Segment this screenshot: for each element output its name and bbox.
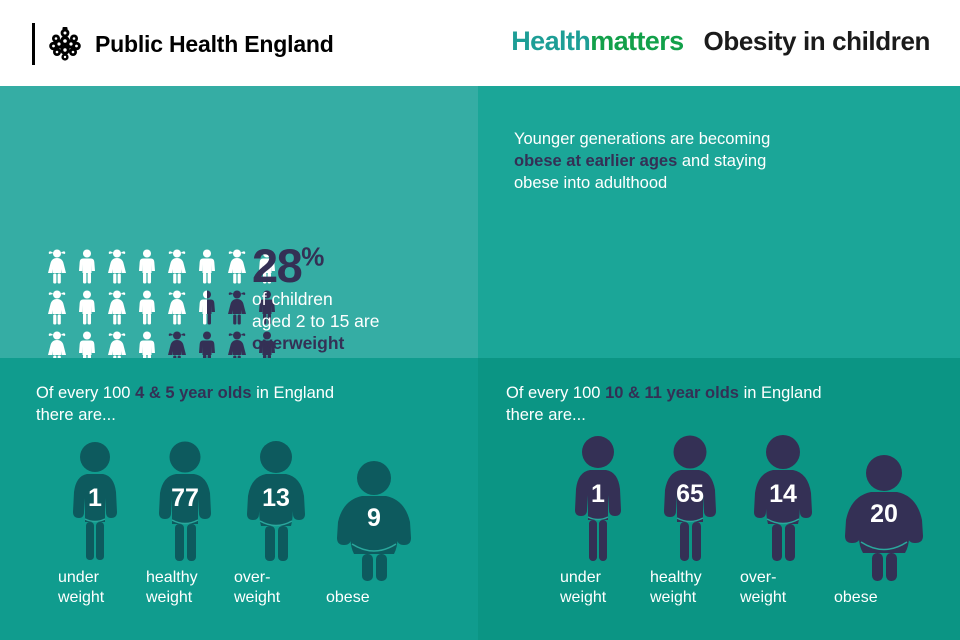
- child-figure-boy-icon: [134, 248, 160, 284]
- child-figure-boy-icon: [74, 330, 100, 358]
- label-line: obese: [834, 589, 878, 606]
- child-figure-girl-icon: [224, 248, 250, 284]
- child-figure-girl-icon: [104, 330, 130, 358]
- page-title: Obesity in children: [704, 26, 930, 57]
- overweight-stat-block: 28% of children aged 2 to 15 are overwei…: [252, 244, 432, 358]
- public-health-england-logo: Public Health England: [32, 22, 334, 66]
- body-label: over-weight: [234, 568, 326, 608]
- child-figure-boy-half-highlighted-icon: [194, 289, 220, 325]
- body-figure-overweight-icon: [234, 440, 318, 562]
- title-bold: 4 & 5 year olds: [135, 384, 251, 402]
- child-figure-girl-highlighted-icon: [164, 330, 190, 358]
- child-figure-girl-icon: [104, 248, 130, 284]
- label-line: under: [58, 569, 99, 586]
- generations-line1: Younger generations are becoming: [514, 128, 844, 150]
- body-chart-4-5: 1 underweight 77 healthyweight: [58, 440, 426, 608]
- body-label: healthyweight: [650, 568, 740, 608]
- child-figure-girl-highlighted-icon: [224, 330, 250, 358]
- brand-matters-text: matters: [590, 26, 683, 57]
- label-line: over-: [234, 569, 270, 586]
- generations-caption: Younger generations are becoming obese a…: [514, 128, 844, 194]
- body-label: underweight: [560, 568, 650, 608]
- pictogram-chart: [44, 248, 280, 358]
- panel-overweight-share: 28% of children aged 2 to 15 are overwei…: [0, 86, 478, 358]
- label-line: weight: [650, 589, 696, 606]
- body-figure-obese-icon: [326, 460, 422, 582]
- label-line: obese: [326, 589, 370, 606]
- generations-line2: obese at earlier ages and staying: [514, 150, 844, 172]
- pictogram-row: [44, 330, 280, 358]
- label-line: healthy: [650, 569, 702, 586]
- body-label: underweight: [58, 568, 146, 608]
- title-bold: 10 & 11 year olds: [605, 384, 739, 402]
- label-line: weight: [58, 589, 104, 606]
- stat-number: 28: [252, 239, 301, 292]
- body-item: 77 healthyweight: [146, 440, 234, 608]
- header-bar: Public Health England Healthmatters Obes…: [0, 0, 960, 86]
- chart-title-4-5: Of every 100 4 & 5 year olds in England …: [36, 382, 456, 426]
- child-figure-boy-icon: [74, 248, 100, 284]
- body-label: over-weight: [740, 568, 834, 608]
- child-figure-girl-icon: [44, 330, 70, 358]
- chart-title-line2: there are...: [36, 404, 456, 426]
- child-figure-girl-icon: [104, 289, 130, 325]
- chart-title-line2: there are...: [506, 404, 936, 426]
- body-item: 13 over-weight: [234, 440, 326, 608]
- generations-line2-rest: and staying: [677, 152, 766, 170]
- title-prefix: Of every 100: [506, 384, 605, 402]
- logo-divider-rule: [32, 23, 35, 65]
- panel-4-5-year-olds: Of every 100 4 & 5 year olds in England …: [0, 358, 478, 640]
- royal-crest-icon: [45, 24, 85, 64]
- title-suffix: in England: [252, 384, 335, 402]
- panel-generations: Younger generations are becoming obese a…: [478, 86, 960, 358]
- label-line: over-: [740, 569, 776, 586]
- generations-line2-bold: obese at earlier ages: [514, 152, 677, 170]
- stat-desc-line2: aged 2 to 15 are: [252, 310, 432, 332]
- body-figure-underweight-icon: [560, 434, 636, 562]
- body-item: 20 obese: [834, 454, 938, 608]
- label-line: weight: [146, 589, 192, 606]
- chart-title-line1: Of every 100 10 & 11 year olds in Englan…: [506, 382, 936, 404]
- label-line: weight: [560, 589, 606, 606]
- child-figure-boy-highlighted-icon: [194, 330, 220, 358]
- child-figure-girl-icon: [44, 248, 70, 284]
- child-figure-boy-icon: [134, 289, 160, 325]
- child-figure-girl-icon: [164, 289, 190, 325]
- generations-line3: obese into adulthood: [514, 172, 844, 194]
- organisation-name: Public Health England: [95, 31, 334, 58]
- title-suffix: in England: [739, 384, 822, 402]
- body-item: 1 underweight: [560, 434, 650, 608]
- body-figure-overweight-icon: [740, 434, 826, 562]
- infographic-page: Public Health England Healthmatters Obes…: [0, 0, 960, 640]
- chart-title-line1: Of every 100 4 & 5 year olds in England: [36, 382, 456, 404]
- label-line: weight: [740, 589, 786, 606]
- body-item: 9 obese: [326, 460, 426, 608]
- health-matters-branding: Healthmatters Obesity in children: [511, 26, 930, 57]
- child-figure-boy-icon: [74, 289, 100, 325]
- stat-desc-line3: overweight: [252, 332, 432, 354]
- body-chart-10-11: 1 underweight 65 healthyweight: [560, 434, 938, 608]
- child-figure-girl-icon: [164, 248, 190, 284]
- body-label: healthyweight: [146, 568, 234, 608]
- child-figure-boy-icon: [194, 248, 220, 284]
- child-figure-boy-icon: [134, 330, 160, 358]
- body-figure-healthy-weight-icon: [650, 434, 730, 562]
- label-line: weight: [234, 589, 280, 606]
- pictogram-row: [44, 289, 280, 325]
- brand-health-text: Health: [511, 26, 590, 57]
- child-figure-girl-highlighted-icon: [224, 289, 250, 325]
- body-item: 65 healthyweight: [650, 434, 740, 608]
- body-item: 1 underweight: [58, 440, 146, 608]
- body-figure-obese-icon: [834, 454, 934, 582]
- body-label: obese: [326, 588, 426, 608]
- child-figure-girl-icon: [44, 289, 70, 325]
- percent-sign: %: [301, 241, 323, 271]
- stat-percentage: 28%: [252, 244, 432, 288]
- body-figure-underweight-icon: [58, 440, 132, 562]
- body-item: 14 over-weight: [740, 434, 834, 608]
- chart-title-10-11: Of every 100 10 & 11 year olds in Englan…: [506, 382, 936, 426]
- panel-10-11-year-olds: Of every 100 10 & 11 year olds in Englan…: [478, 358, 960, 640]
- stat-desc-line1: of children: [252, 288, 432, 310]
- pictogram-row: [44, 248, 280, 284]
- label-line: under: [560, 569, 601, 586]
- title-prefix: Of every 100: [36, 384, 135, 402]
- label-line: healthy: [146, 569, 198, 586]
- body-figure-healthy-weight-icon: [146, 440, 224, 562]
- body-label: obese: [834, 588, 938, 608]
